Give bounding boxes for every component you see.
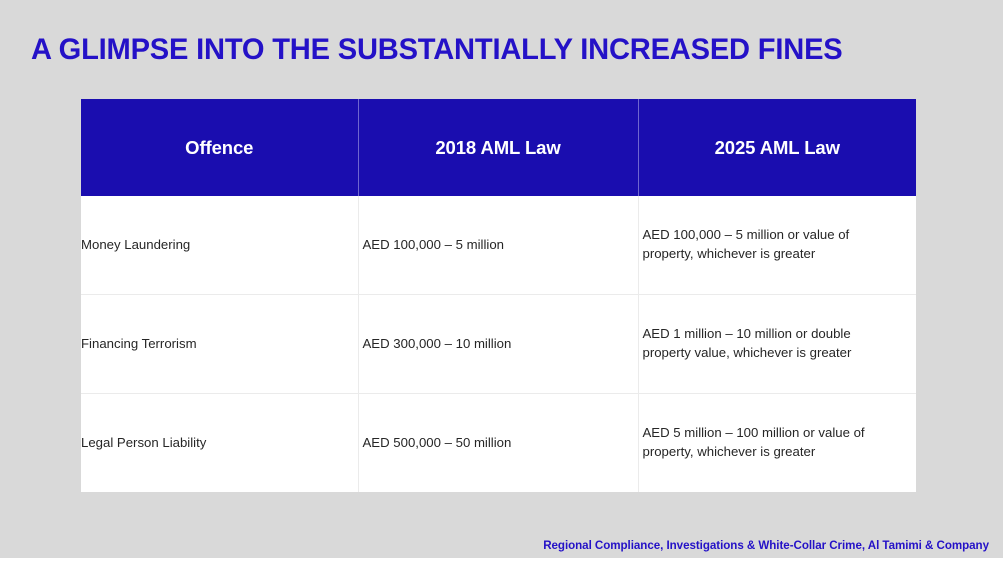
cell-offence: Legal Person Liability xyxy=(81,394,358,493)
cell-2025-law-text: AED 1 million – 10 million or double pro… xyxy=(639,325,901,362)
cell-offence-text: Money Laundering xyxy=(81,236,342,255)
cell-2018-law-text: AED 100,000 – 5 million xyxy=(359,236,622,255)
cell-2018-law-text: AED 500,000 – 50 million xyxy=(359,434,622,453)
table-row: Legal Person Liability AED 500,000 – 50 … xyxy=(81,394,916,493)
table-row: Money Laundering AED 100,000 – 5 million… xyxy=(81,196,916,295)
page-title: A GLIMPSE INTO THE SUBSTANTIALLY INCREAS… xyxy=(31,33,843,67)
cell-2018-law-text: AED 300,000 – 10 million xyxy=(359,335,622,354)
cell-offence-text: Financing Terrorism xyxy=(81,335,342,354)
fines-comparison-table: Offence 2018 AML Law 2025 AML Law Money … xyxy=(81,99,916,492)
cell-2018-law: AED 500,000 – 50 million xyxy=(358,394,638,493)
table-header-row: Offence 2018 AML Law 2025 AML Law xyxy=(81,99,916,196)
column-header-2018-aml-law: 2018 AML Law xyxy=(358,99,638,196)
table-row: Financing Terrorism AED 300,000 – 10 mil… xyxy=(81,295,916,394)
cell-offence: Money Laundering xyxy=(81,196,358,295)
cell-2025-law: AED 1 million – 10 million or double pro… xyxy=(638,295,916,394)
column-header-2025-aml-law: 2025 AML Law xyxy=(638,99,916,196)
slide-canvas: A GLIMPSE INTO THE SUBSTANTIALLY INCREAS… xyxy=(0,0,1003,558)
cell-2025-law: AED 5 million – 100 million or value of … xyxy=(638,394,916,493)
cell-offence-text: Legal Person Liability xyxy=(81,434,342,453)
table-header: Offence 2018 AML Law 2025 AML Law xyxy=(81,99,916,196)
column-header-offence: Offence xyxy=(81,99,358,196)
cell-2025-law-text: AED 5 million – 100 million or value of … xyxy=(639,424,901,461)
cell-2018-law: AED 300,000 – 10 million xyxy=(358,295,638,394)
footer-attribution: Regional Compliance, Investigations & Wh… xyxy=(543,539,989,552)
cell-2025-law: AED 100,000 – 5 million or value of prop… xyxy=(638,196,916,295)
cell-offence: Financing Terrorism xyxy=(81,295,358,394)
cell-2018-law: AED 100,000 – 5 million xyxy=(358,196,638,295)
cell-2025-law-text: AED 100,000 – 5 million or value of prop… xyxy=(639,226,901,263)
table-body: Money Laundering AED 100,000 – 5 million… xyxy=(81,196,916,492)
bottom-strip xyxy=(0,558,1003,564)
